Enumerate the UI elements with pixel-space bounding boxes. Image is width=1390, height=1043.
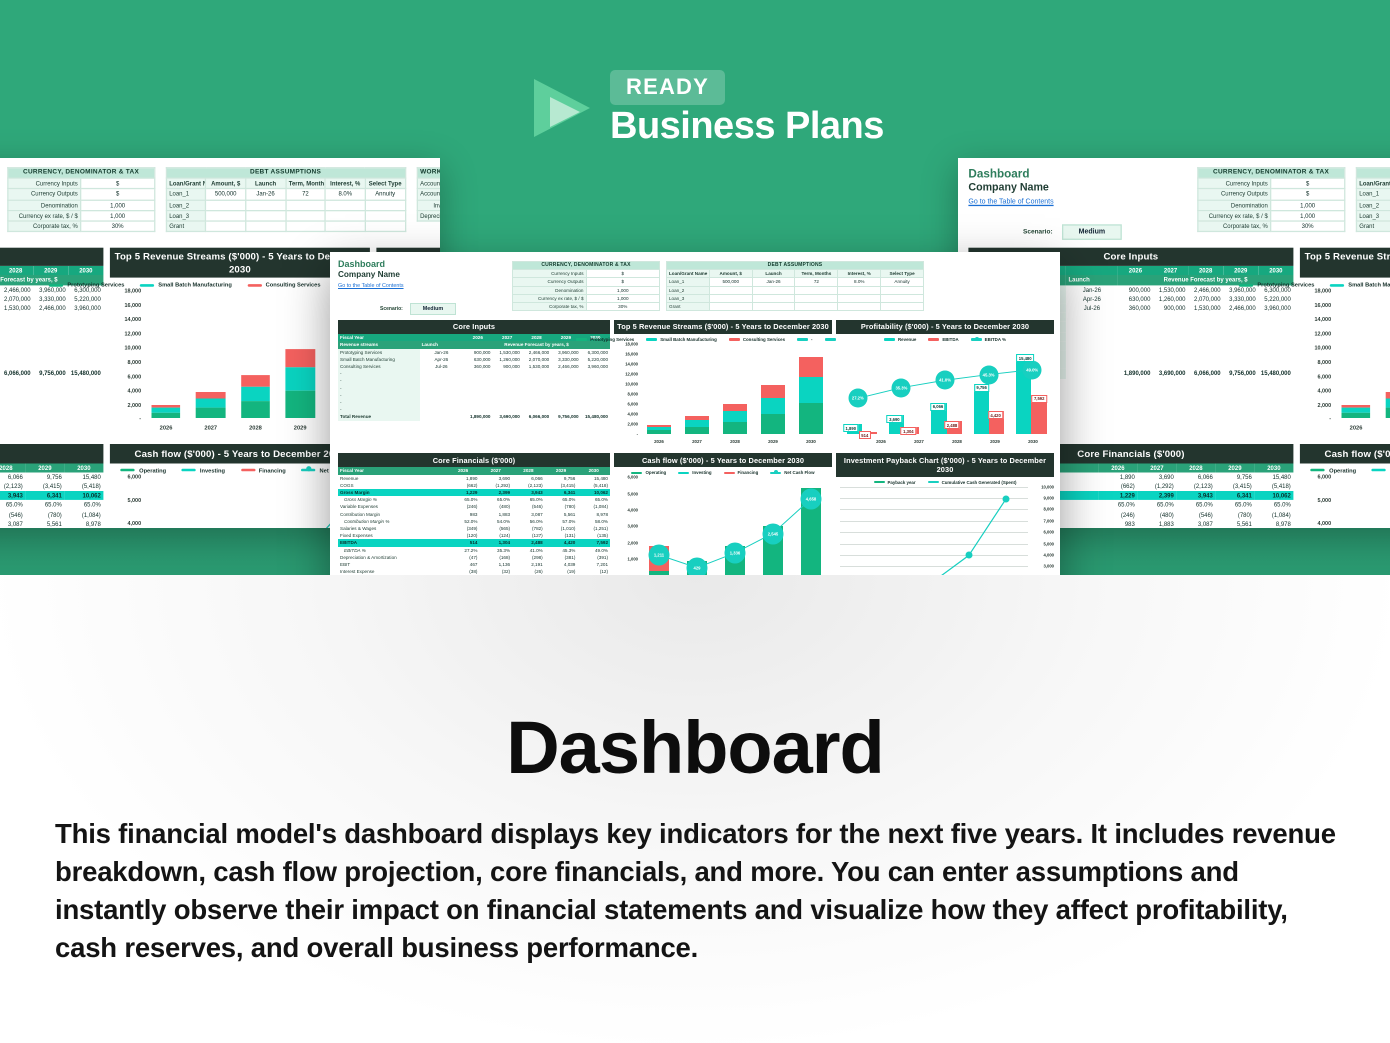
table-cell[interactable]: 10,062 [577, 489, 610, 496]
legend-item[interactable]: Small Batch Manufacturing [1330, 282, 1390, 289]
stream-value[interactable]: 5,220,000 [1258, 294, 1293, 303]
table-cell[interactable]: (124) [479, 532, 512, 539]
table-cell[interactable]: (47) [447, 554, 480, 561]
table-cell[interactable]: 514 [447, 539, 480, 546]
table-cell[interactable] [286, 210, 326, 221]
stream-value[interactable]: 1,530,000 [1188, 304, 1223, 313]
table-cell[interactable]: 1,890 [1098, 472, 1137, 481]
currency-denominator-tax-block[interactable]: CURRENCY, DENOMINATOR & TAXCurrency Inpu… [1197, 167, 1345, 232]
bar-column[interactable] [196, 291, 225, 418]
table-cell[interactable] [838, 286, 881, 294]
table-cell[interactable]: (19) [545, 568, 578, 575]
stream-value[interactable]: 3,330,000 [33, 294, 68, 303]
table-cell[interactable]: (662) [447, 482, 480, 489]
stream-value[interactable] [1258, 322, 1293, 331]
table-cell[interactable]: (2,123) [1176, 482, 1215, 491]
stream-value[interactable] [0, 313, 33, 322]
table-cell[interactable] [838, 303, 881, 311]
stream-value[interactable]: 3,960,000 [1258, 304, 1293, 313]
stream-value[interactable] [581, 399, 610, 406]
core-inputs-table[interactable]: Fiscal Year20262027202820292030Revenue s… [338, 334, 610, 420]
stream-value[interactable]: 6,300,000 [581, 349, 610, 356]
table-cell[interactable]: (780) [1215, 510, 1254, 519]
row-value[interactable]: $ [81, 189, 154, 200]
table-cell[interactable]: (127) [512, 532, 545, 539]
stream-value[interactable] [1258, 332, 1293, 341]
table-cell[interactable]: 1,229 [447, 489, 480, 496]
stream-value[interactable] [1153, 360, 1188, 369]
stream-value[interactable] [463, 385, 492, 392]
table-cell[interactable] [206, 221, 246, 232]
scenario-value[interactable]: Medium [410, 303, 456, 315]
stream-value[interactable]: 2,070,000 [522, 356, 551, 363]
core-financials-table[interactable]: Fiscal Year20262027202820292030Revenue1,… [0, 463, 103, 528]
table-cell[interactable]: 6,341 [545, 489, 578, 496]
table-cell[interactable]: Grant [667, 303, 710, 311]
stream-value[interactable]: 5,220,000 [581, 356, 610, 363]
stream-launch[interactable] [1066, 341, 1118, 350]
table-cell[interactable]: 65.0% [1098, 501, 1137, 510]
table-cell[interactable]: (546) [512, 503, 545, 510]
row-value[interactable]: 30% [1271, 221, 1344, 232]
table-cell[interactable]: 2,191 [512, 561, 545, 568]
table-cell[interactable]: (782) [512, 525, 545, 532]
stream-value[interactable] [551, 392, 580, 399]
legend-item[interactable]: Consulting Services [729, 337, 785, 342]
stream-value[interactable] [33, 313, 68, 322]
table-cell[interactable] [752, 294, 795, 302]
stream-value[interactable] [522, 392, 551, 399]
legend-item[interactable]: Investing [182, 467, 225, 474]
table-cell[interactable]: 52.0% [447, 518, 480, 525]
table-cell[interactable]: 45.3% [545, 547, 578, 554]
stream-value[interactable] [1223, 350, 1258, 359]
currency-denominator-tax-block[interactable]: CURRENCY, DENOMINATOR & TAXCurrency Inpu… [7, 167, 155, 232]
debt-assumptions-table[interactable]: DEBT ASSUMPTIONSLoan/Grant NameAmount, $… [1355, 167, 1390, 232]
stream-value[interactable] [463, 399, 492, 406]
chart-investment-payback[interactable]: Investment Payback Chart ($'000) - 5 Yea… [836, 453, 1054, 575]
stream-value[interactable] [33, 350, 68, 359]
table-cell[interactable]: (1,084) [577, 503, 610, 510]
stream-value[interactable] [0, 322, 33, 331]
stream-launch[interactable]: Apr-26 [1066, 294, 1118, 303]
stream-value[interactable] [1118, 350, 1153, 359]
stream-value[interactable] [1188, 341, 1223, 350]
table-cell[interactable]: 65.0% [479, 496, 512, 503]
stream-name[interactable]: - [338, 399, 420, 406]
stream-value[interactable] [1188, 332, 1223, 341]
table-cell[interactable] [365, 221, 405, 232]
stream-value[interactable] [1118, 313, 1153, 322]
legend-item[interactable]: Revenue [884, 337, 916, 342]
stream-value[interactable] [1223, 332, 1258, 341]
legend-item[interactable]: Investing [1372, 467, 1390, 474]
stream-value[interactable] [68, 350, 103, 359]
stream-value[interactable]: 2,466,000 [1188, 285, 1223, 294]
stream-value[interactable] [1153, 350, 1188, 359]
working-capital-depreciation-block[interactable]: WORKING CAPITAL & DEPRECIATIONAccounts R… [416, 167, 440, 222]
table-cell[interactable] [838, 294, 881, 302]
scenario-value[interactable]: Medium [1062, 224, 1122, 240]
row-value[interactable]: $ [586, 278, 660, 286]
table-cell[interactable]: (2,123) [512, 482, 545, 489]
stream-value[interactable]: 630,000 [1118, 294, 1153, 303]
debt-assumptions-table[interactable]: DEBT ASSUMPTIONSLoan/Grant NameAmount, $… [165, 167, 406, 232]
stream-value[interactable] [581, 370, 610, 377]
table-cell[interactable] [246, 200, 286, 211]
table-cell[interactable]: (391) [577, 554, 610, 561]
stream-launch[interactable]: Jan-26 [420, 349, 464, 356]
table-cell[interactable]: 6,341 [1215, 491, 1254, 500]
table-cell[interactable]: 65.0% [545, 496, 578, 503]
stream-value[interactable] [522, 406, 551, 413]
table-cell[interactable]: Loan_1 [166, 189, 206, 200]
stream-value[interactable]: 1,530,000 [0, 304, 33, 313]
table-cell[interactable]: Loan_3 [667, 294, 710, 302]
row-value[interactable]: 1,000 [586, 286, 660, 294]
stream-value[interactable]: 3,960,000 [581, 363, 610, 370]
table-cell[interactable]: 3,087 [0, 519, 25, 528]
stream-value[interactable]: 1,530,000 [1153, 285, 1188, 294]
table-cell[interactable]: (32) [479, 568, 512, 575]
table-cell[interactable]: 983 [447, 511, 480, 518]
stream-value[interactable] [1258, 341, 1293, 350]
table-cell[interactable]: 2,399 [1137, 491, 1176, 500]
chart-revenue-streams[interactable]: Top 5 Revenue Streams ($'000) - 5 Years … [614, 320, 832, 448]
stream-value[interactable] [463, 370, 492, 377]
stream-launch[interactable] [1066, 322, 1118, 331]
table-cell[interactable]: 8.0% [325, 189, 365, 200]
table-cell[interactable]: 3,690 [479, 475, 512, 482]
stream-value[interactable] [68, 332, 103, 341]
table-cell[interactable]: 2,488 [512, 539, 545, 546]
stream-value[interactable] [33, 360, 68, 369]
stream-value[interactable] [581, 392, 610, 399]
table-cell[interactable] [365, 210, 405, 221]
chart-cash-flow[interactable]: Cash flow ($'000) - 5 Years to December … [614, 453, 832, 575]
stream-value[interactable] [1118, 360, 1153, 369]
row-value[interactable]: 30% [586, 303, 660, 311]
stream-value[interactable] [581, 406, 610, 413]
legend-item[interactable]: Cumulative Cash Generated (Spent) [928, 480, 1017, 485]
stream-value[interactable] [463, 392, 492, 399]
table-cell[interactable] [709, 286, 752, 294]
row-value[interactable]: $ [1271, 178, 1344, 189]
table-cell[interactable] [795, 294, 838, 302]
stream-value[interactable] [33, 322, 68, 331]
table-cell[interactable]: (480) [1137, 510, 1176, 519]
row-value[interactable]: 1,000 [81, 200, 154, 211]
stream-value[interactable]: 2,466,000 [522, 349, 551, 356]
table-cell[interactable]: 983 [1098, 519, 1137, 528]
stream-launch[interactable] [420, 392, 464, 399]
table-cell[interactable]: (1,010) [545, 525, 578, 532]
bar-column[interactable] [723, 344, 748, 434]
debt-assumptions-table[interactable]: DEBT ASSUMPTIONSLoan/Grant NameAmount, $… [666, 261, 924, 311]
stream-launch[interactable] [420, 406, 464, 413]
stream-value[interactable] [522, 385, 551, 392]
chart-cash-flow[interactable]: Cash flow ($'000) - 5 Years to December … [1300, 445, 1390, 528]
stream-value[interactable] [522, 377, 551, 384]
table-cell[interactable]: Jan-26 [246, 189, 286, 200]
stream-value[interactable] [1153, 332, 1188, 341]
table-of-contents-link[interactable]: Go to the Table of Contents [338, 283, 506, 289]
table-cell[interactable]: (565) [479, 525, 512, 532]
table-cell[interactable]: 3,943 [512, 489, 545, 496]
currency-denominator-tax-block[interactable]: CURRENCY, DENOMINATOR & TAXCurrency Inpu… [512, 261, 660, 311]
table-cell[interactable]: Loan_3 [166, 210, 206, 221]
table-cell[interactable]: 10,062 [1254, 491, 1293, 500]
stream-value[interactable]: 900,000 [1118, 285, 1153, 294]
legend-item[interactable]: Consulting Services [247, 282, 320, 289]
stream-name[interactable]: - [338, 385, 420, 392]
stream-value[interactable]: 900,000 [1153, 304, 1188, 313]
table-cell[interactable]: 6,066 [512, 475, 545, 482]
stream-name[interactable]: - [338, 392, 420, 399]
table-cell[interactable]: 72 [286, 189, 326, 200]
stream-value[interactable] [1153, 322, 1188, 331]
table-cell[interactable]: 1,229 [1098, 491, 1137, 500]
stream-value[interactable] [68, 360, 103, 369]
table-cell[interactable]: 3,943 [1176, 491, 1215, 500]
table-cell[interactable] [325, 221, 365, 232]
table-cell[interactable]: 3,087 [512, 511, 545, 518]
row-value[interactable]: $ [81, 178, 154, 189]
table-cell[interactable]: 41.0% [512, 547, 545, 554]
bar-column[interactable] [152, 291, 181, 418]
table-cell[interactable] [881, 294, 924, 302]
legend-item[interactable]: Prototyping Services [1239, 282, 1314, 289]
stream-value[interactable] [1188, 350, 1223, 359]
bar-column[interactable] [241, 291, 270, 418]
legend-item[interactable]: Payback year [874, 480, 916, 485]
table-cell[interactable] [325, 210, 365, 221]
bar-column[interactable] [647, 344, 672, 434]
stream-value[interactable] [463, 377, 492, 384]
stream-value[interactable]: 360,000 [1118, 304, 1153, 313]
table-cell[interactable]: 65.0% [577, 496, 610, 503]
table-cell[interactable]: (1,292) [479, 482, 512, 489]
table-cell[interactable]: (5,418) [1254, 482, 1293, 491]
stream-value[interactable] [1258, 360, 1293, 369]
table-cell[interactable]: Loan_2 [1356, 200, 1390, 211]
table-cell[interactable]: (246) [1098, 510, 1137, 519]
table-cell[interactable]: 8,978 [64, 519, 103, 528]
table-cell[interactable]: 9,756 [545, 475, 578, 482]
table-cell[interactable]: Loan_2 [667, 286, 710, 294]
stream-name[interactable]: - [338, 406, 420, 413]
table-cell[interactable]: 9,756 [25, 472, 64, 481]
table-cell[interactable]: (168) [479, 554, 512, 561]
table-cell[interactable]: (662) [1098, 482, 1137, 491]
stream-value[interactable]: 3,960,000 [68, 304, 103, 313]
table-cell[interactable]: 15,480 [64, 472, 103, 481]
table-cell[interactable]: (780) [545, 503, 578, 510]
legend-item[interactable]: Small Batch Manufacturing [140, 282, 232, 289]
row-value[interactable]: 1,000 [81, 210, 154, 221]
table-cell[interactable]: (1,084) [64, 510, 103, 519]
table-cell[interactable]: 4,039 [545, 561, 578, 568]
stream-value[interactable]: 360,000 [463, 363, 492, 370]
table-cell[interactable]: 7,201 [577, 561, 610, 568]
table-cell[interactable]: 65.0% [447, 496, 480, 503]
table-cell[interactable]: 49.0% [577, 547, 610, 554]
stream-value[interactable]: 3,330,000 [551, 356, 580, 363]
legend-item[interactable]: Prototyping Services [49, 282, 124, 289]
table-cell[interactable]: (26) [512, 568, 545, 575]
table-cell[interactable] [246, 221, 286, 232]
stream-value[interactable] [1258, 350, 1293, 359]
stream-name[interactable]: - [338, 377, 420, 384]
legend-item[interactable]: Financing [724, 470, 759, 475]
stream-value[interactable] [492, 406, 521, 413]
table-cell[interactable]: 2,399 [479, 489, 512, 496]
stream-value[interactable] [551, 399, 580, 406]
stream-value[interactable] [492, 392, 521, 399]
table-cell[interactable]: 35.3% [479, 547, 512, 554]
stream-launch[interactable] [420, 370, 464, 377]
stream-value[interactable] [492, 377, 521, 384]
table-cell[interactable]: 1,883 [1137, 519, 1176, 528]
table-of-contents-link[interactable]: Go to the Table of Contents [968, 198, 1186, 206]
stream-value[interactable] [1223, 322, 1258, 331]
stream-value[interactable] [522, 399, 551, 406]
legend-item[interactable]: EBITDA [928, 337, 958, 342]
stream-name[interactable]: Prototyping Services [338, 349, 420, 356]
stream-launch[interactable] [420, 399, 464, 406]
table-cell[interactable]: 1,883 [479, 511, 512, 518]
row-value[interactable]: 1,000 [1271, 200, 1344, 211]
table-cell[interactable]: 9,756 [1215, 472, 1254, 481]
stream-launch[interactable] [1066, 313, 1118, 322]
table-cell[interactable]: (546) [1176, 510, 1215, 519]
table-cell[interactable]: 65.0% [25, 501, 64, 510]
stream-value[interactable]: 1,260,000 [1153, 294, 1188, 303]
table-cell[interactable]: 500,000 [206, 189, 246, 200]
table-cell[interactable]: (246) [447, 503, 480, 510]
table-cell[interactable]: Loan_1 [667, 278, 710, 286]
stream-value[interactable] [1223, 313, 1258, 322]
table-cell[interactable]: (780) [25, 510, 64, 519]
row-value[interactable]: 1,000 [586, 294, 660, 302]
stream-value[interactable]: 900,000 [463, 349, 492, 356]
stream-value[interactable] [1118, 341, 1153, 350]
stream-value[interactable] [551, 385, 580, 392]
stream-name[interactable]: Small Batch Manufacturing [338, 356, 420, 363]
table-cell[interactable]: (131) [545, 532, 578, 539]
bar-column[interactable] [799, 344, 824, 434]
table-cell[interactable]: 65.0% [64, 501, 103, 510]
core-financials-table[interactable]: Fiscal Year20262027202820292030Revenue1,… [338, 467, 610, 575]
table-cell[interactable]: (38) [447, 568, 480, 575]
table-cell[interactable]: 6,066 [1176, 472, 1215, 481]
table-cell[interactable]: 57.0% [545, 518, 578, 525]
row-value[interactable]: $ [586, 270, 660, 278]
table-cell[interactable]: 8.0% [838, 278, 881, 286]
table-cell[interactable]: 3,943 [0, 491, 25, 500]
table-cell[interactable]: 65.0% [1254, 501, 1293, 510]
table-cell[interactable] [246, 210, 286, 221]
stream-value[interactable]: 3,330,000 [1223, 294, 1258, 303]
stream-value[interactable]: 2,070,000 [0, 294, 33, 303]
legend-item[interactable]: Small Batch Manufacturing [646, 337, 717, 342]
table-cell[interactable] [206, 200, 246, 211]
table-cell[interactable]: 6,066 [0, 472, 25, 481]
table-cell[interactable]: 3,087 [1176, 519, 1215, 528]
stream-value[interactable] [0, 360, 33, 369]
stream-value[interactable] [0, 350, 33, 359]
stream-value[interactable]: 2,466,000 [33, 304, 68, 313]
stream-value[interactable]: 2,466,000 [1223, 304, 1258, 313]
stream-value[interactable] [1153, 341, 1188, 350]
stream-launch[interactable] [420, 377, 464, 384]
stream-launch[interactable] [420, 385, 464, 392]
table-cell[interactable]: Loan_1 [1356, 189, 1390, 200]
table-cell[interactable]: 65.0% [512, 496, 545, 503]
table-cell[interactable]: (298) [512, 554, 545, 561]
table-cell[interactable]: (381) [545, 554, 578, 561]
stream-value[interactable] [1118, 322, 1153, 331]
stream-launch[interactable] [1066, 332, 1118, 341]
stream-value[interactable] [1153, 313, 1188, 322]
stream-launch[interactable] [1066, 350, 1118, 359]
stream-value[interactable]: 3,960,000 [551, 349, 580, 356]
stream-value[interactable] [551, 370, 580, 377]
table-cell[interactable]: (120) [447, 532, 480, 539]
table-cell[interactable]: Annuity [365, 189, 405, 200]
stream-value[interactable]: 2,466,000 [0, 285, 33, 294]
table-cell[interactable]: 54.0% [479, 518, 512, 525]
stream-value[interactable] [1188, 360, 1223, 369]
table-cell[interactable] [881, 286, 924, 294]
table-cell[interactable]: 467 [447, 561, 480, 568]
stream-value[interactable] [68, 341, 103, 350]
row-value[interactable]: 1,000 [1271, 210, 1344, 221]
stream-value[interactable] [33, 332, 68, 341]
table-cell[interactable]: 56.0% [512, 518, 545, 525]
table-cell[interactable]: Loan_2 [166, 200, 206, 211]
table-cell[interactable]: (480) [479, 503, 512, 510]
scenario-selector[interactable]: Scenario:Medium [380, 303, 506, 315]
table-cell[interactable]: Jan-26 [752, 278, 795, 286]
bar-column[interactable] [286, 291, 315, 418]
table-cell[interactable]: 1,136 [479, 561, 512, 568]
bar-column[interactable] [685, 344, 710, 434]
table-cell[interactable]: 5,561 [1215, 519, 1254, 528]
stream-value[interactable] [68, 322, 103, 331]
stream-value[interactable]: 900,000 [492, 363, 521, 370]
table-cell[interactable]: (546) [0, 510, 25, 519]
table-cell[interactable] [286, 200, 326, 211]
stream-value[interactable] [522, 370, 551, 377]
table-cell[interactable]: (12) [577, 568, 610, 575]
stream-name[interactable]: Consulting Services [338, 363, 420, 370]
table-cell[interactable]: 65.0% [1215, 501, 1254, 510]
table-cell[interactable] [709, 303, 752, 311]
stream-value[interactable] [1118, 332, 1153, 341]
bar-column[interactable] [1386, 291, 1390, 418]
table-cell[interactable]: 15,480 [1254, 472, 1293, 481]
stream-value[interactable]: 5,220,000 [68, 294, 103, 303]
table-cell[interactable]: 65.0% [0, 501, 25, 510]
table-cell[interactable]: 6,341 [25, 491, 64, 500]
table-cell[interactable]: 7,592 [577, 539, 610, 546]
table-cell[interactable]: (1,251) [577, 525, 610, 532]
legend-item[interactable]: Investing [678, 470, 711, 475]
stream-launch[interactable] [1066, 360, 1118, 369]
stream-launch[interactable]: Jul-26 [1066, 304, 1118, 313]
stream-value[interactable] [492, 370, 521, 377]
